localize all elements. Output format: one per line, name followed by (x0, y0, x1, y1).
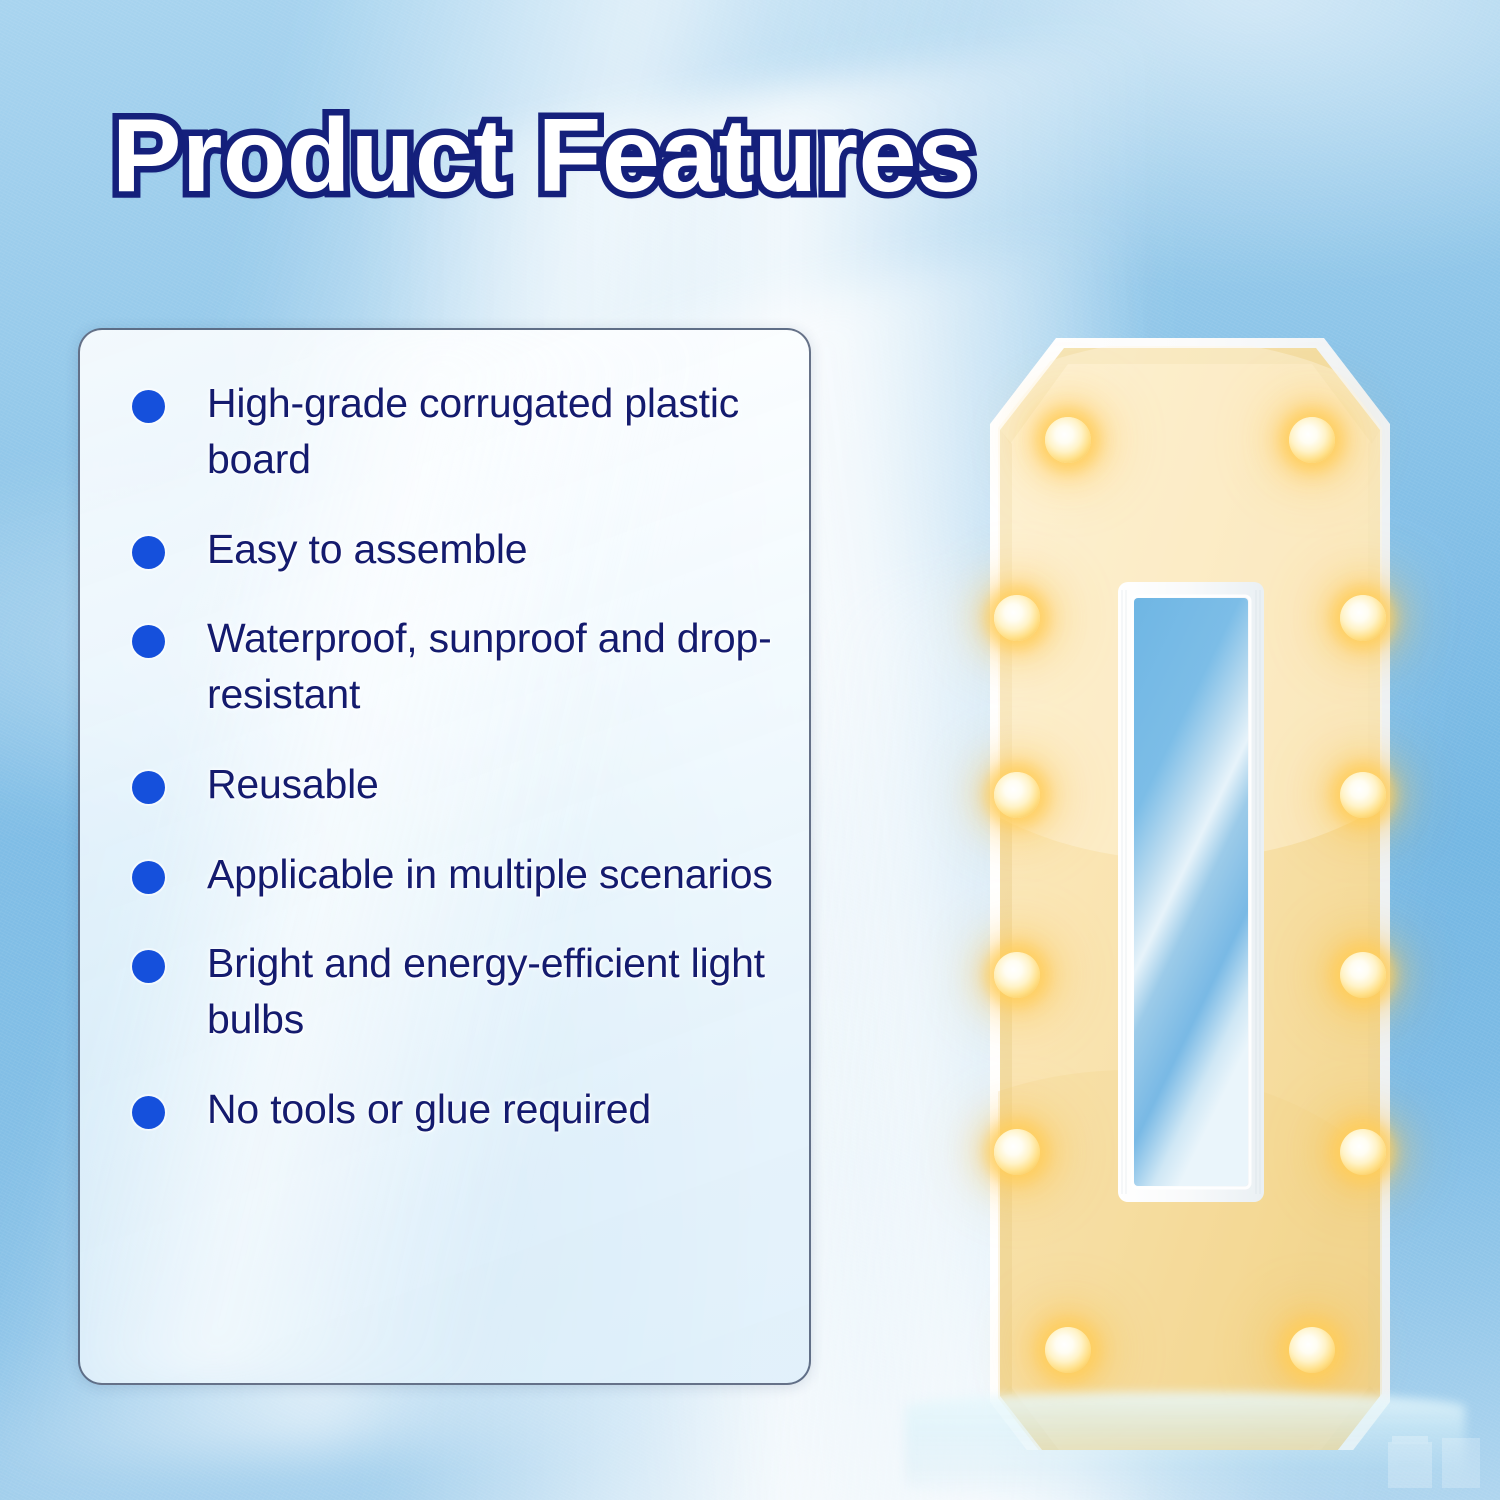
page-title: Product Features (112, 104, 975, 208)
feature-list: High-grade corrugated plastic board Easy… (80, 330, 809, 1138)
list-item: Applicable in multiple scenarios (132, 847, 783, 903)
feature-label: Waterproof, sunproof and drop-resistant (207, 611, 783, 723)
led-bulb-icon (994, 1129, 1040, 1175)
product-image-marquee-letter (880, 300, 1480, 1450)
list-item: Easy to assemble (132, 522, 783, 578)
list-item: Waterproof, sunproof and drop-resistant (132, 611, 783, 723)
bullet-dot-icon (132, 390, 165, 423)
led-bulb-icon (1340, 595, 1386, 641)
led-bulb-icon (994, 952, 1040, 998)
led-bulb-icon (1045, 417, 1091, 463)
feature-label: Easy to assemble (207, 522, 527, 578)
bullet-dot-icon (132, 771, 165, 804)
features-card: High-grade corrugated plastic board Easy… (78, 328, 811, 1385)
product-reflection (905, 1392, 1465, 1500)
led-bulb-icon (1340, 1129, 1386, 1175)
watermark-icon (1382, 1416, 1486, 1492)
feature-label: Reusable (207, 757, 379, 813)
led-bulb-icon (1340, 952, 1386, 998)
bullet-dot-icon (132, 950, 165, 983)
led-bulb-icon (1340, 772, 1386, 818)
led-bulb-icon (1289, 417, 1335, 463)
bullet-dot-icon (132, 536, 165, 569)
letter-body (880, 300, 1480, 1450)
product-feature-banner: Product Features High-grade corrugated p… (0, 0, 1500, 1500)
feature-label: No tools or glue required (207, 1082, 651, 1138)
list-item: Reusable (132, 757, 783, 813)
list-item: Bright and energy-efficient light bulbs (132, 936, 783, 1048)
bullet-dot-icon (132, 625, 165, 658)
bullet-dot-icon (132, 861, 165, 894)
led-bulb-icon (1045, 1327, 1091, 1373)
bullet-dot-icon (132, 1096, 165, 1129)
led-bulb-icon (994, 595, 1040, 641)
marquee-letter-o-shape (880, 300, 1480, 1450)
list-item: No tools or glue required (132, 1082, 783, 1138)
led-bulb-icon (994, 772, 1040, 818)
feature-label: Bright and energy-efficient light bulbs (207, 936, 783, 1048)
list-item: High-grade corrugated plastic board (132, 376, 783, 488)
led-bulb-icon (1289, 1327, 1335, 1373)
feature-label: High-grade corrugated plastic board (207, 376, 783, 488)
feature-label: Applicable in multiple scenarios (207, 847, 773, 903)
